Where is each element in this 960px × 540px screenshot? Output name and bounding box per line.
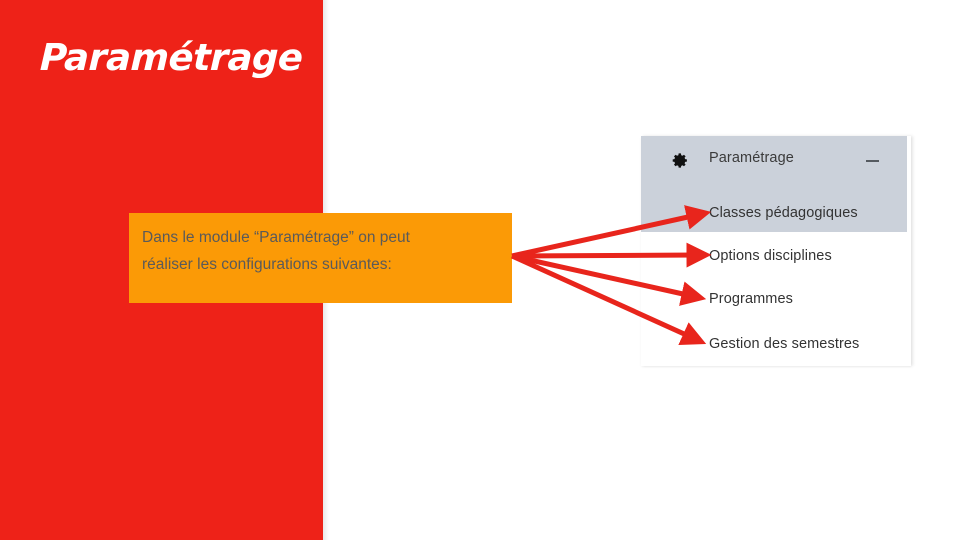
callout-box: Dans le module “Paramétrage” on peut réa… <box>129 213 512 303</box>
menu-header[interactable]: Paramétrage <box>641 136 907 186</box>
callout-line-1: Dans le module “Paramétrage” on peut <box>142 224 498 251</box>
menu-item-classes-pedagogiques[interactable]: Classes pédagogiques <box>641 199 907 227</box>
callout-line-2: réaliser les configurations suivantes: <box>142 251 498 278</box>
slide-canvas: Paramétrage Paramétrage Classes pédagogi… <box>0 0 960 540</box>
page-title: Paramétrage <box>39 38 310 79</box>
minus-icon[interactable] <box>866 160 879 162</box>
menu-item-options-disciplines[interactable]: Options disciplines <box>641 242 907 270</box>
menu-item-gestion-des-semestres[interactable]: Gestion des semestres <box>641 330 907 358</box>
menu-item-programmes[interactable]: Programmes <box>641 285 907 313</box>
menu-header-label: Paramétrage <box>709 150 794 166</box>
gear-icon <box>672 152 689 169</box>
